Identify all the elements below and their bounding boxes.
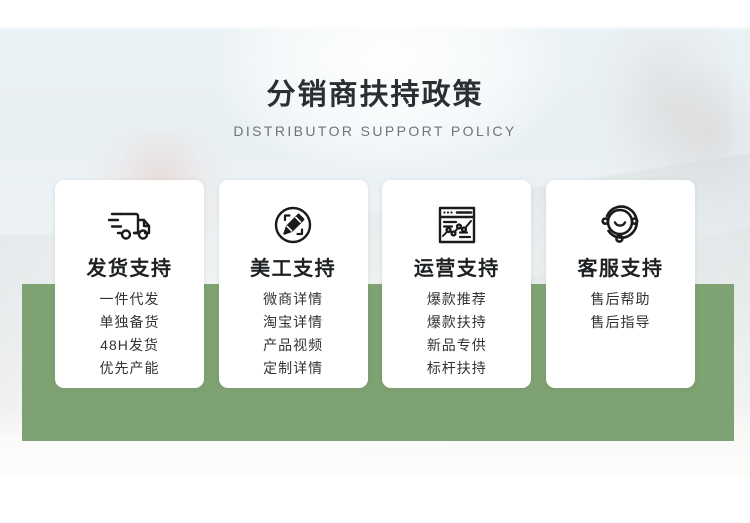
promo-banner: 分销商扶持政策 DISTRIBUTOR SUPPORT POLICY <box>0 0 750 523</box>
card-item-list: 售后帮助 售后指导 <box>590 288 650 334</box>
list-item: 优先产能 <box>100 357 160 380</box>
page-subtitle: DISTRIBUTOR SUPPORT POLICY <box>0 123 750 140</box>
support-card-shipping[interactable]: 发货支持 一件代发 单独备货 48H发货 优先产能 <box>55 180 204 388</box>
delivery-truck-icon <box>104 194 156 256</box>
support-card-operations[interactable]: 运营支持 爆款推荐 爆款扶持 新品专供 标杆扶持 <box>382 180 531 388</box>
list-item: 产品视频 <box>263 334 323 357</box>
pencil-design-icon <box>271 194 315 256</box>
list-item: 爆款扶持 <box>427 311 487 334</box>
list-item: 爆款推荐 <box>427 288 487 311</box>
list-item: 一件代发 <box>100 288 160 311</box>
list-item: 售后帮助 <box>590 288 650 311</box>
browser-chart-icon <box>435 194 479 256</box>
card-title: 美工支持 <box>250 257 336 281</box>
list-item: 定制详情 <box>263 357 323 380</box>
page-title: 分销商扶持政策 <box>0 78 750 112</box>
card-title: 发货支持 <box>87 257 173 281</box>
support-card-customer-service[interactable]: 客服支持 售后帮助 售后指导 <box>546 180 695 388</box>
support-card-list: 发货支持 一件代发 单独备货 48H发货 优先产能 美工支持 <box>55 180 695 388</box>
card-item-list: 微商详情 淘宝详情 产品视频 定制详情 <box>263 288 323 380</box>
headset-support-icon <box>597 194 643 256</box>
card-item-list: 爆款推荐 爆款扶持 新品专供 标杆扶持 <box>427 288 487 380</box>
list-item: 售后指导 <box>590 311 650 334</box>
list-item: 微商详情 <box>263 288 323 311</box>
list-item: 新品专供 <box>427 334 487 357</box>
card-item-list: 一件代发 单独备货 48H发货 优先产能 <box>100 288 160 380</box>
list-item: 单独备货 <box>100 311 160 334</box>
list-item: 48H发货 <box>100 334 159 357</box>
card-title: 客服支持 <box>577 257 663 281</box>
list-item: 标杆扶持 <box>427 357 487 380</box>
list-item: 淘宝详情 <box>263 311 323 334</box>
card-title: 运营支持 <box>414 257 500 281</box>
support-card-design[interactable]: 美工支持 微商详情 淘宝详情 产品视频 定制详情 <box>219 180 368 388</box>
